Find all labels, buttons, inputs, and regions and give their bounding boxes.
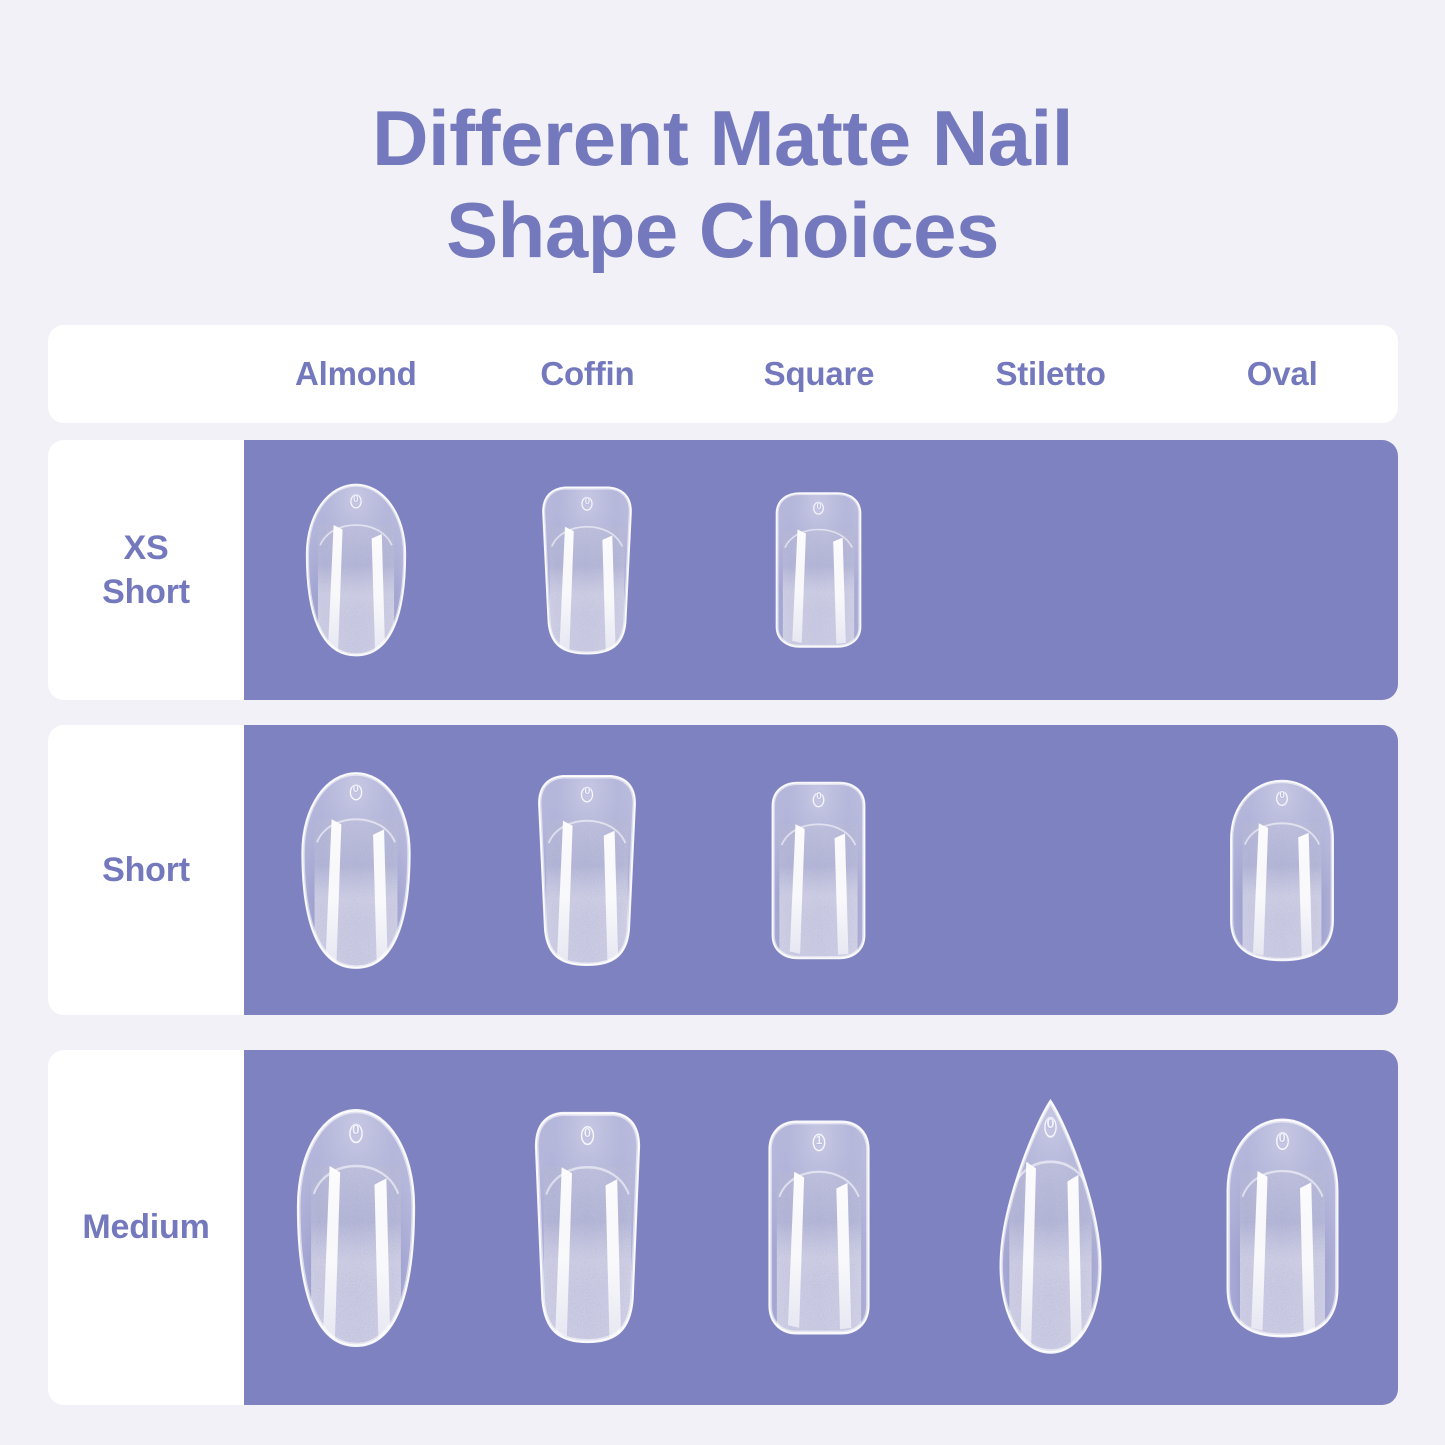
row-label-line-1: Short [102,848,190,892]
nail-tip-oval[interactable]: 0 [1224,776,1340,965]
nail-tip-almond[interactable]: 0 [290,1104,422,1352]
row-label-medium: Medium [82,1205,209,1249]
cell-short-almond[interactable]: 0 [240,725,472,1015]
shape-header-columns: Almond Coffin Square Stiletto Oval [240,325,1398,423]
nail-tip-square[interactable]: 0 [761,778,876,963]
row-cells-xs-short: 0 [240,440,1398,700]
size-row-medium: 0 [48,1050,1398,1405]
nail-tip-oval[interactable]: 0 [1220,1114,1345,1342]
nail-tip-square[interactable]: 1 [757,1116,881,1339]
cell-medium-square[interactable]: 1 [703,1050,935,1405]
cell-medium-almond[interactable]: 0 [240,1050,472,1405]
nail-tip-stiletto[interactable]: 0 [990,1096,1111,1359]
column-header-coffin: Coffin [472,355,704,393]
nail-tip-coffin[interactable]: 0 [532,483,642,658]
infographic-page: Different Matte Nail Shape Choices Almon… [0,0,1445,1445]
row-cells-short: 0 [240,725,1398,1015]
nail-tip-square[interactable]: 0 [766,489,871,651]
page-title-line-2: Shape Choices [0,184,1445,276]
page-title: Different Matte Nail Shape Choices [0,92,1445,276]
cell-short-stiletto [935,725,1167,1015]
page-title-line-1: Different Matte Nail [0,92,1445,184]
shape-header-card: Almond Coffin Square Stiletto Oval [48,325,1398,423]
nail-tip-coffin[interactable]: 0 [523,1107,652,1348]
cell-medium-coffin[interactable]: 0 [472,1050,704,1405]
cell-short-oval[interactable]: 0 [1166,725,1398,1015]
column-header-square: Square [703,355,935,393]
nail-tip-coffin[interactable]: 0 [527,771,647,970]
nail-tip-almond[interactable]: 0 [295,768,417,973]
cell-xs-short-oval [1166,440,1398,700]
column-header-oval: Oval [1166,355,1398,393]
cell-xs-short-square[interactable]: 0 [703,440,935,700]
row-label-card-short: Short [48,725,244,1015]
column-header-almond: Almond [240,355,472,393]
cell-short-square[interactable]: 0 [703,725,935,1015]
row-band-xs-short: 0 [240,440,1398,700]
cell-xs-short-stiletto [935,440,1167,700]
row-band-medium: 0 [240,1050,1398,1405]
size-row-short: 0 [48,725,1398,1015]
row-band-short: 0 [240,725,1398,1015]
row-label-line-1: XS [102,526,190,570]
row-label-line-2: Short [102,570,190,614]
nail-tip-almond[interactable]: 0 [300,480,412,660]
row-cells-medium: 0 [240,1050,1398,1405]
row-label-xs-short: XS Short [102,526,190,614]
cell-medium-stiletto[interactable]: 0 [935,1050,1167,1405]
row-label-short: Short [102,848,190,892]
column-header-stiletto: Stiletto [935,355,1167,393]
size-row-xs-short: 0 [48,440,1398,700]
row-label-line-1: Medium [82,1205,209,1249]
row-label-card-medium: Medium [48,1050,244,1405]
cell-medium-oval[interactable]: 0 [1166,1050,1398,1405]
cell-short-coffin[interactable]: 0 [472,725,704,1015]
cell-xs-short-almond[interactable]: 0 [240,440,472,700]
cell-xs-short-coffin[interactable]: 0 [472,440,704,700]
row-label-card-xs-short: XS Short [48,440,244,700]
